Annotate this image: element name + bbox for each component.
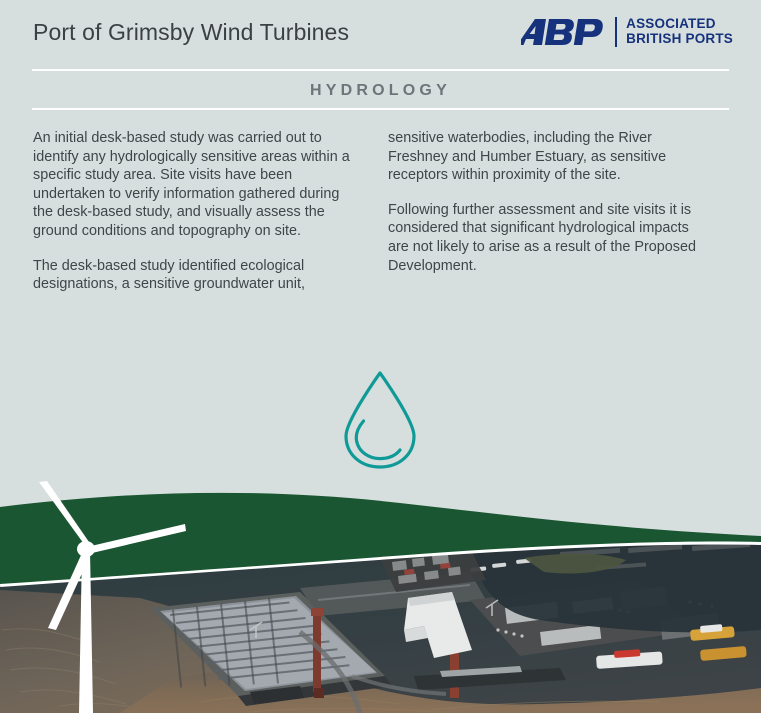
text-column-left: An initial desk-based study was carried … [33, 129, 358, 294]
paragraph: Following further assessment and site vi… [388, 201, 713, 275]
logo-wordmark: ASSOCIATED BRITISH PORTS [626, 17, 733, 46]
abp-logo-mark-icon [521, 17, 605, 47]
page-header: Port of Grimsby Wind Turbines ASSOCIATED… [0, 0, 761, 70]
logo-divider [615, 17, 617, 47]
page-title: Port of Grimsby Wind Turbines [33, 19, 349, 46]
divider-top [32, 69, 729, 71]
paragraph: The desk-based study identified ecologic… [33, 257, 358, 294]
logo-line-2: BRITISH PORTS [626, 32, 733, 47]
artwork-composition [0, 480, 761, 713]
body-copy: An initial desk-based study was carried … [33, 129, 730, 294]
bottom-artwork [0, 480, 761, 713]
divider-bottom [32, 108, 729, 110]
slide-page: Port of Grimsby Wind Turbines ASSOCIATED… [0, 0, 761, 713]
logo-line-1: ASSOCIATED [626, 17, 733, 32]
paragraph: An initial desk-based study was carried … [33, 129, 358, 241]
water-droplet-icon-wrap [338, 368, 422, 472]
paragraph: sensitive waterbodies, including the Riv… [388, 129, 713, 185]
text-column-right: sensitive waterbodies, including the Riv… [388, 129, 713, 294]
section-title: HYDROLOGY [0, 82, 761, 100]
abp-logo: ASSOCIATED BRITISH PORTS [521, 14, 733, 50]
water-droplet-icon [338, 368, 422, 472]
